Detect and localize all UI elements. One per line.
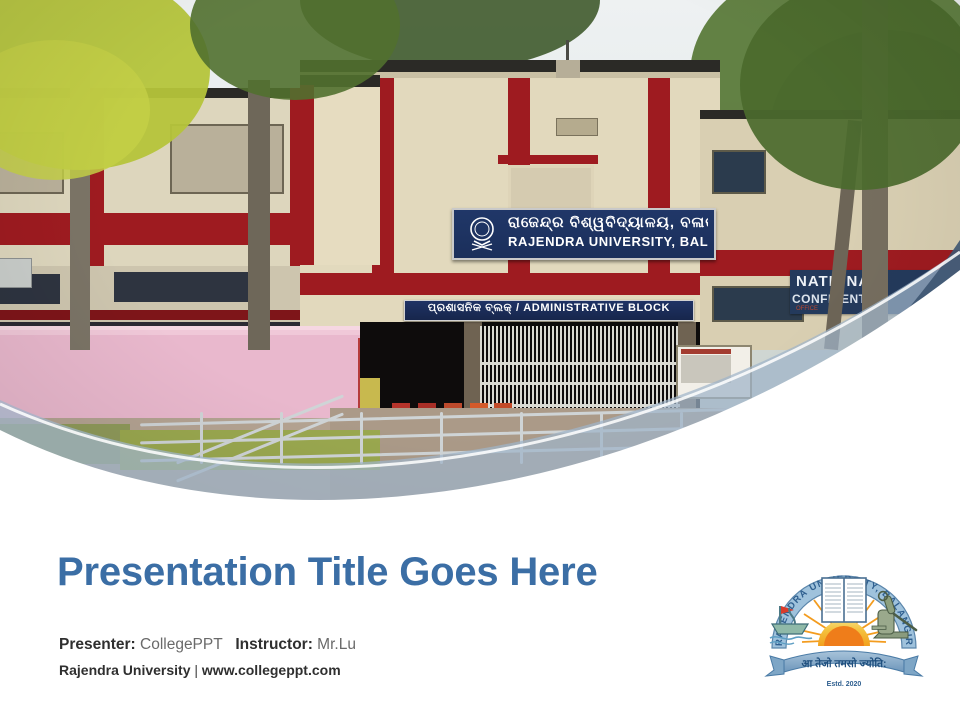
gate-bar	[520, 326, 522, 414]
side-projection-red-edge	[300, 85, 314, 265]
administrative-block-sign: ପ୍ରଶାସନିକ ବ୍ଲକ୍ / ADMINISTRATIVE BLOCK	[404, 300, 694, 321]
gate-bar	[648, 326, 650, 414]
emblem-ribbon: आ तेजो तमसो ज्योति:	[766, 651, 922, 676]
instructor-label: Instructor:	[235, 636, 313, 653]
gate-bar	[540, 326, 542, 414]
metal-railing	[140, 404, 860, 474]
presenter-label: Presenter:	[59, 636, 136, 653]
presenter-line: Presenter: CollegePPT Instructor: Mr.Lu	[59, 636, 356, 654]
right-sign-line-3: OFFICE	[796, 306, 818, 312]
building-left-window-lower-2	[114, 272, 254, 302]
gate-bar	[532, 326, 534, 414]
notice-board-header	[681, 349, 731, 354]
gate-bar	[636, 326, 638, 414]
emblem-svg: RAJENDRA UNIVERSITY, BALANGIR	[762, 548, 926, 698]
gate-bar	[616, 326, 618, 414]
railing-post	[600, 412, 603, 464]
university-name-sign: ରାଜେନ୍ଦ୍ର ବିଶ୍ୱବିଦ୍ୟାଳୟ, ବଳାଙ୍ଗୀର RAJEND…	[452, 208, 716, 260]
administrative-block-sign-text: ପ୍ରଶାସନିକ ବ୍ଲକ୍ / ADMINISTRATIVE BLOCK	[405, 302, 693, 315]
gate-bar	[596, 326, 598, 414]
gate-bar	[576, 326, 578, 414]
gate-bar	[632, 326, 634, 414]
railing-post	[680, 412, 683, 464]
gate-bar	[552, 326, 554, 414]
emblem-motto: आ तेजो तमसो ज्योति:	[801, 657, 886, 670]
grass-patch-left	[0, 424, 130, 464]
railing-post	[200, 412, 203, 464]
gate-bar	[584, 326, 586, 414]
gate-bar	[652, 326, 654, 414]
gate-bar	[608, 326, 610, 414]
gate-bar	[560, 326, 562, 414]
sign-crest-icon	[462, 214, 502, 254]
gate-bar	[536, 326, 538, 414]
gate-bar	[660, 326, 662, 414]
university-emblem: RAJENDRA UNIVERSITY, BALANGIR	[762, 548, 926, 698]
gate-bar	[524, 326, 526, 414]
railing-post	[360, 412, 363, 464]
line-separator: |	[194, 662, 198, 678]
campus-photo: NATIONAL CONFIDENTIAL OFFICE ରାଜେନ୍ଦ୍ର ବ…	[0, 0, 960, 500]
building-main-vent-2	[556, 118, 598, 136]
gate-bar	[564, 326, 566, 414]
air-conditioner-unit	[0, 258, 32, 288]
gate-bar	[548, 326, 550, 414]
gate-bar	[640, 326, 642, 414]
building-main-side-projection	[300, 85, 380, 265]
website-link[interactable]: www.collegeppt.com	[202, 662, 341, 678]
balcony-door-hood	[498, 155, 598, 164]
gate-bar	[612, 326, 614, 414]
gate-bar	[568, 326, 570, 414]
gate-bar	[544, 326, 546, 414]
instructor-name: Mr.Lu	[317, 636, 356, 653]
building-main-porch-band	[300, 273, 720, 295]
presenter-name: CollegePPT	[140, 636, 222, 653]
gate-bar	[604, 326, 606, 414]
gate-bar	[580, 326, 582, 414]
gate-bar	[528, 326, 530, 414]
building-left-red-band-2	[0, 310, 320, 320]
notice-board-image	[681, 355, 731, 383]
organization-name: Rajendra University	[59, 662, 191, 678]
tree-trunk-left-2	[248, 80, 270, 350]
gate-bar	[644, 326, 646, 414]
railing-post	[520, 412, 523, 464]
notice-board	[676, 345, 752, 399]
gate-bar	[620, 326, 622, 414]
gate-bar	[664, 326, 666, 414]
gate-bar	[516, 326, 518, 414]
railing-top-bar	[140, 405, 860, 427]
sign-odia-text: ରାଜେନ୍ଦ୍ର ବିଶ୍ୱବିଦ୍ୟାଳୟ, ବଳାଙ୍ଗୀର	[508, 214, 708, 232]
gate-bar	[624, 326, 626, 414]
building-right-window-1	[712, 150, 766, 194]
gate-bar	[572, 326, 574, 414]
gate-bar	[668, 326, 670, 414]
gate-bar	[512, 326, 514, 414]
presentation-slide: NATIONAL CONFIDENTIAL OFFICE ରାଜେନ୍ଦ୍ର ବ…	[0, 0, 960, 720]
gate-bar	[656, 326, 658, 414]
railing-post	[440, 412, 443, 464]
emblem-established: Estd. 2020	[827, 681, 862, 688]
hero-photo-band: NATIONAL CONFIDENTIAL OFFICE ରାଜେନ୍ଦ୍ର ବ…	[0, 0, 960, 500]
sign-english-text: RAJENDRA UNIVERSITY, BALANGIR	[508, 234, 708, 250]
gate-bar	[556, 326, 558, 414]
building-left-red-band	[0, 213, 320, 245]
gate-bar	[588, 326, 590, 414]
gate-bar	[600, 326, 602, 414]
organization-line: Rajendra University | www.collegeppt.com	[59, 662, 341, 678]
gate-bar	[592, 326, 594, 414]
open-book-icon	[822, 578, 866, 622]
roof-water-tank	[556, 60, 580, 78]
gate-bar	[672, 326, 674, 414]
page-title: Presentation Title Goes Here	[57, 550, 598, 595]
gate-bar	[628, 326, 630, 414]
